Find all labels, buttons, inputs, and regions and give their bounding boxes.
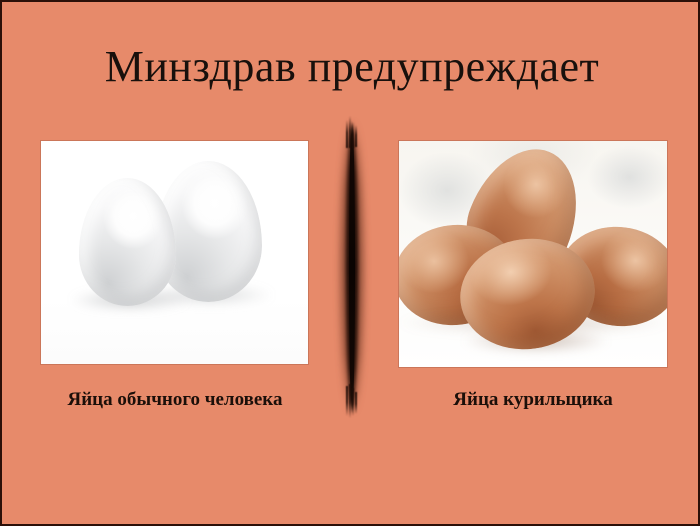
brush-strand [352, 122, 354, 148]
page-title: Минздрав предупреждает [2, 42, 700, 92]
brush-core [349, 120, 355, 414]
demotivator-poster: Минздрав предупреждает Яйца обычного чел… [0, 0, 700, 526]
photo-panel-right [399, 141, 667, 367]
brush-stroke-divider [338, 120, 366, 414]
brush-strand [346, 120, 348, 148]
photo-panel-left [41, 141, 308, 364]
caption-right: Яйца курильщика [388, 388, 678, 412]
brush-strand [352, 388, 354, 416]
brush-strand [349, 116, 351, 148]
brush-strand [355, 125, 357, 147]
caption-left: Яйца обычного человека [22, 388, 328, 412]
brush-strand [349, 384, 351, 418]
brush-strand [346, 386, 348, 416]
brush-strand [355, 392, 357, 414]
